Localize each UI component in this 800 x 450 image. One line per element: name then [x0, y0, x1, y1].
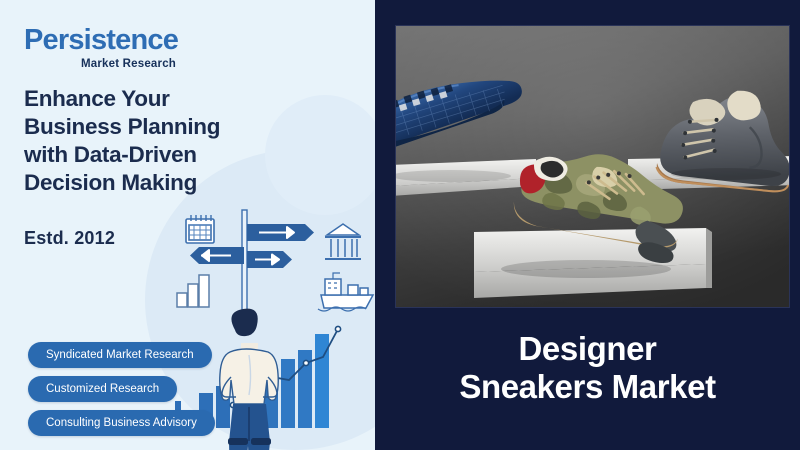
headline-line-2: Business Planning: [24, 113, 274, 141]
brand-logo[interactable]: Persistence Market Research: [24, 26, 178, 70]
logo-tagline: Market Research: [24, 58, 178, 70]
bar-chart-icon: [177, 275, 209, 307]
left-panel: Persistence Market Research Enhance Your…: [0, 0, 375, 450]
shadow-left: [396, 170, 511, 182]
shadow-center: [501, 260, 671, 278]
title-line-1: Designer: [375, 330, 800, 368]
title-line-2: Sneakers Market: [375, 368, 800, 406]
banner-root: Persistence Market Research Enhance Your…: [0, 0, 800, 450]
pill-consulting-business-advisory[interactable]: Consulting Business Advisory: [28, 410, 215, 436]
pill-syndicated-market-research[interactable]: Syndicated Market Research: [28, 342, 212, 368]
service-pill-list: Syndicated Market Research Customized Re…: [28, 342, 215, 436]
headline-line-1: Enhance Your: [24, 85, 274, 113]
established-year: Estd. 2012: [24, 228, 115, 249]
sneakers-photo: [395, 25, 790, 308]
right-panel: Designer Sneakers Market: [375, 0, 800, 450]
market-report-title: Designer Sneakers Market: [375, 330, 800, 407]
headline-line-3: with Data-Driven: [24, 141, 274, 169]
businessman-figure: [220, 309, 279, 450]
pill-customized-research[interactable]: Customized Research: [28, 376, 177, 402]
sneakers-photo-graphic: [396, 26, 790, 308]
headline-line-4: Decision Making: [24, 169, 274, 197]
logo-wordmark: Persistence: [24, 26, 178, 55]
bank-icon: [325, 224, 361, 259]
background-blob-small: [265, 95, 375, 215]
page-title: Enhance Your Business Planning with Data…: [24, 85, 274, 197]
shadow-right: [671, 168, 781, 180]
calendar-icon: [186, 215, 214, 243]
cargo-ship-icon: [318, 273, 373, 311]
